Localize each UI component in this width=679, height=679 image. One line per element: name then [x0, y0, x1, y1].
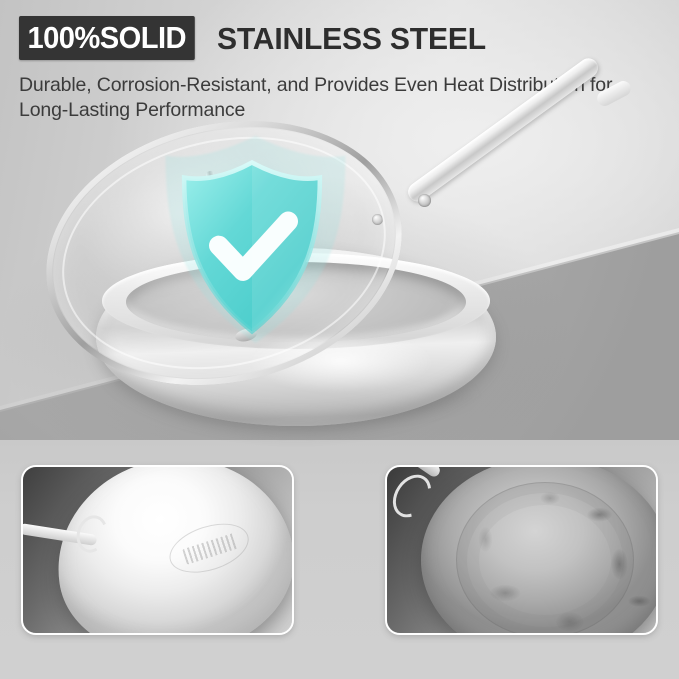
our-pan-card[interactable] — [21, 465, 294, 635]
comparison-section: VS OUR PAN 3-layer stainless steel TRADI… — [0, 440, 679, 679]
shield-check-icon — [176, 158, 328, 336]
pan-discoloration — [421, 465, 658, 635]
hero-product-image — [0, 96, 679, 456]
traditional-pan-card[interactable] — [385, 465, 658, 635]
headline-row: 100%SOLID STAINLESS STEEL — [19, 16, 661, 60]
pan-engraved-stamp — [163, 515, 255, 582]
product-infographic: 100%SOLID STAINLESS STEEL Durable, Corro… — [0, 0, 679, 679]
solid-badge: 100%SOLID — [19, 16, 194, 60]
handle-rivet — [418, 194, 431, 207]
shield-badge — [148, 132, 363, 367]
headline-text: STAINLESS STEEL — [217, 23, 486, 54]
traditional-pan-image — [421, 465, 658, 635]
pan-handle — [410, 118, 626, 268]
